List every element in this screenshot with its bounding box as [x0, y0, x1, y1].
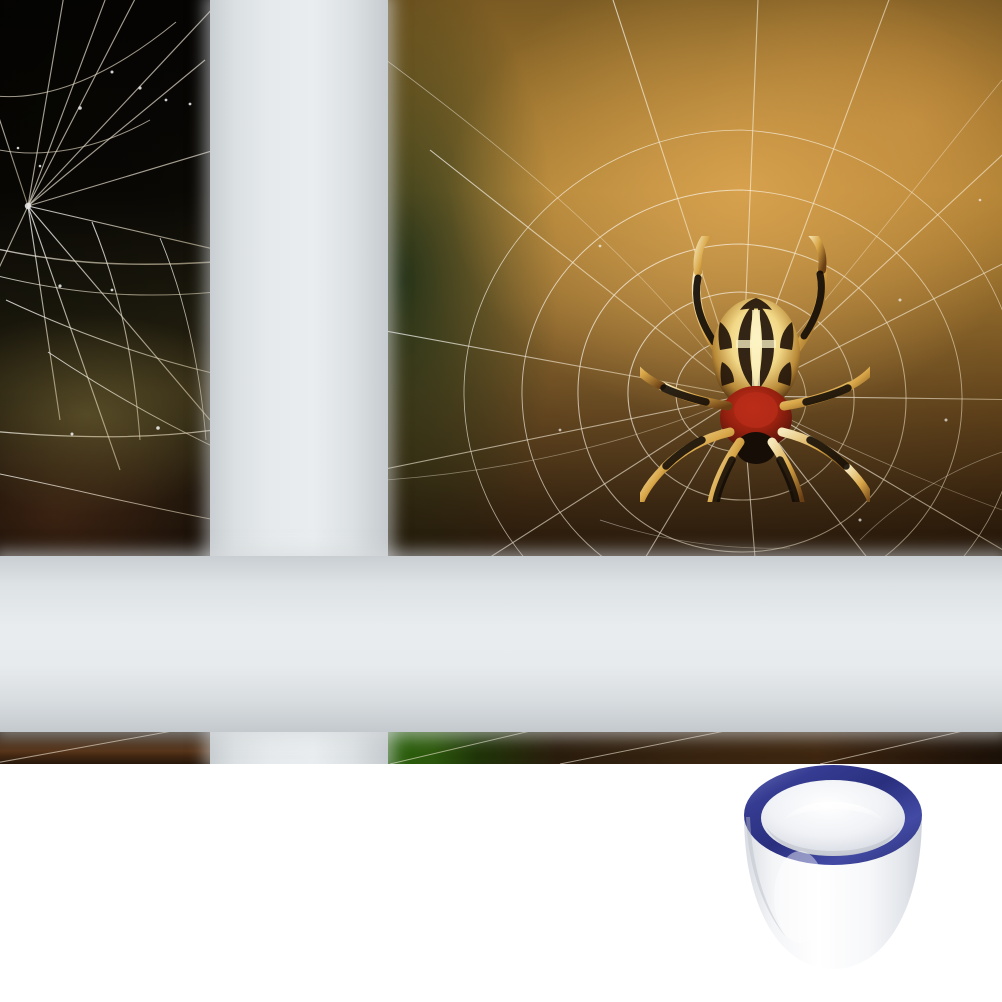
product-listing-image: CLIMB THE SPOIL TROUGH Multi-purpose bas… [0, 0, 1002, 1002]
window-pane-bottom-left [0, 730, 216, 764]
window-mullion-horizontal [0, 556, 1002, 732]
window-pane-top-left [0, 0, 216, 560]
product-bowl-image [738, 757, 928, 977]
hero-photo [0, 0, 1002, 764]
spider [640, 236, 870, 502]
